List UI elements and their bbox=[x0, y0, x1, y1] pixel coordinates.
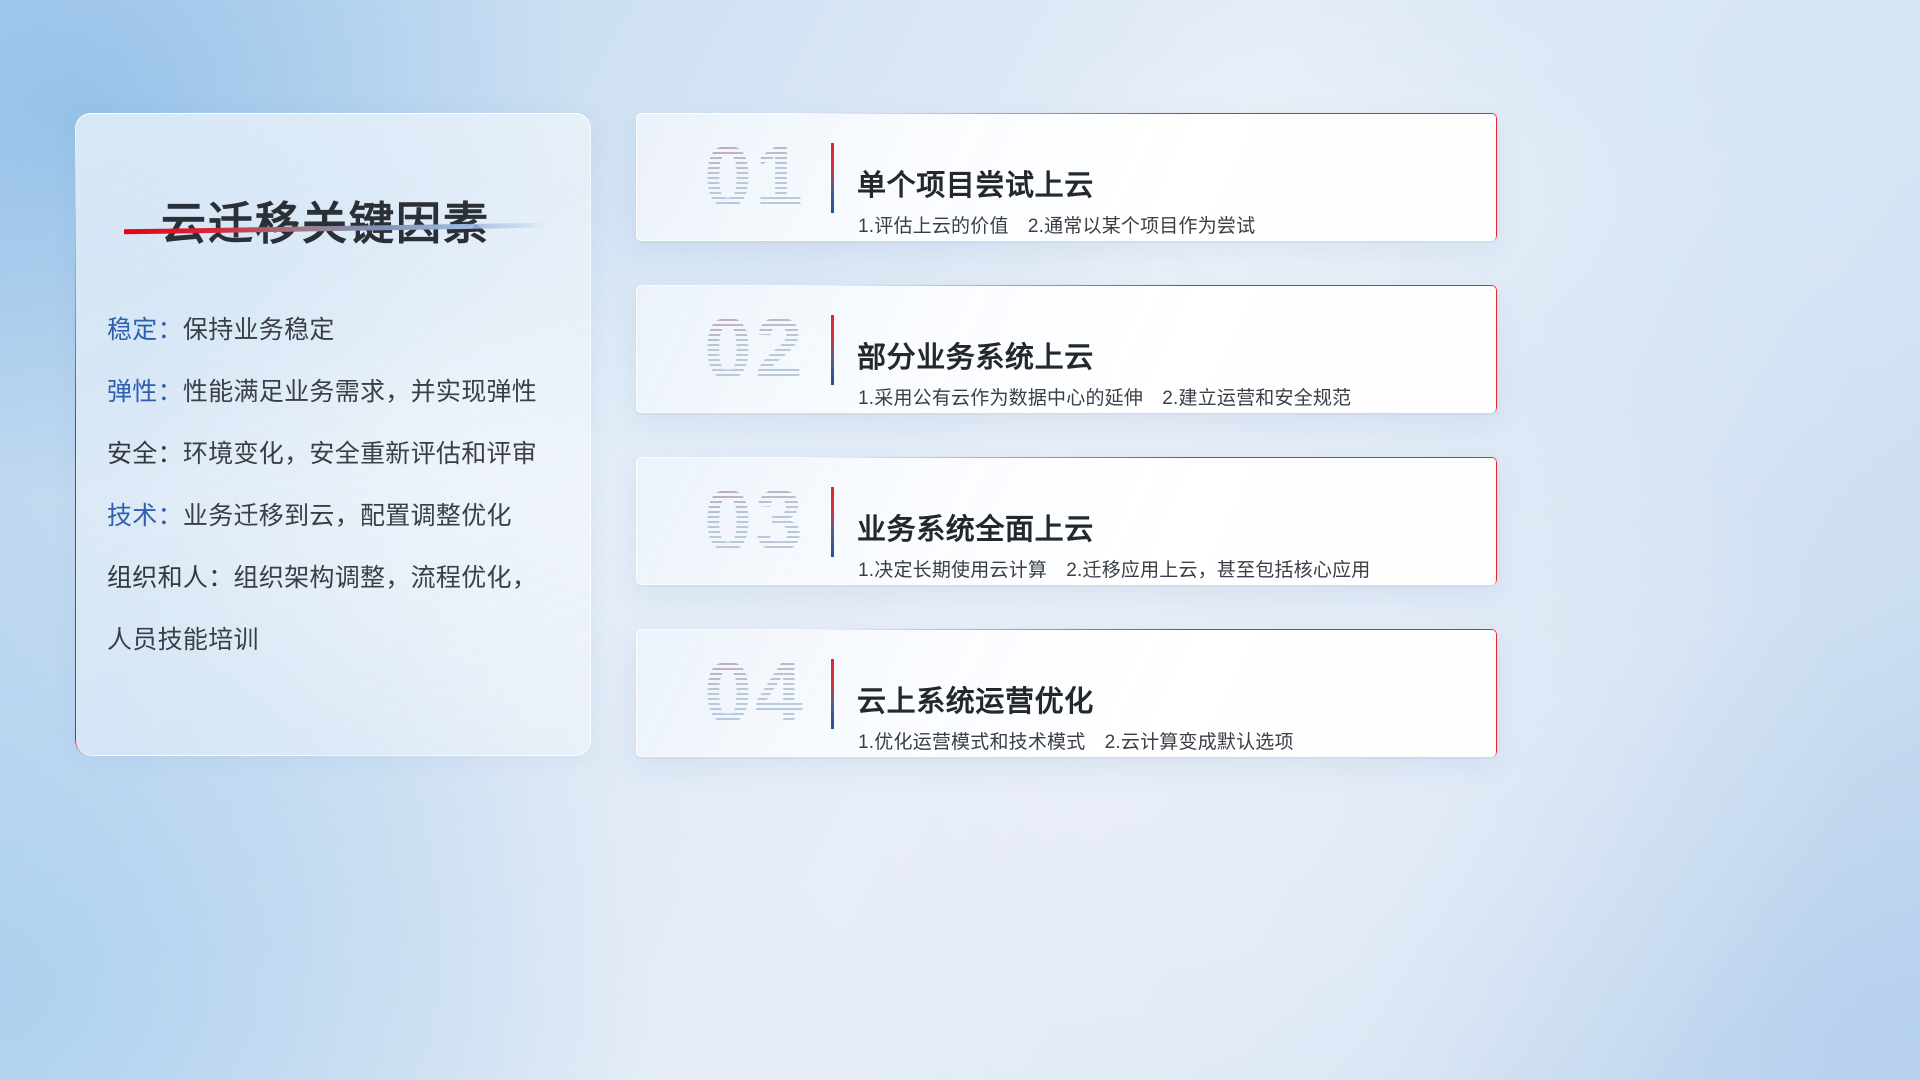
step-number-ghost-tint: 01 bbox=[660, 127, 850, 227]
key-factors-list: 稳定：保持业务稳定 弹性：性能满足业务需求，并实现弹性 安全：环境变化，安全重新… bbox=[107, 299, 577, 671]
step-number-ghost: 04 bbox=[660, 643, 850, 743]
factor-value: 组织架构调整，流程优化， bbox=[234, 564, 538, 592]
factor-value: 保持业务稳定 bbox=[183, 316, 335, 344]
step-title: 云上系统运营优化 bbox=[857, 678, 1094, 720]
slide-canvas: 云迁移关键因素 稳定：保持业务稳定 弹性：性能满足业务需求，并实现弹性 安全：环… bbox=[0, 0, 1920, 1080]
factor-label: 组织和人： bbox=[107, 564, 234, 592]
step-description: 1.优化运营模式和技术模式 2.云计算变成默认选项 bbox=[858, 727, 1294, 754]
page-title: 云迁移关键因素 bbox=[161, 187, 490, 252]
card-divider bbox=[831, 659, 834, 729]
factor-value: 性能满足业务需求，并实现弹性 bbox=[183, 378, 537, 406]
card-divider bbox=[831, 143, 834, 213]
factor-label: 技术： bbox=[107, 502, 183, 530]
list-item: 人员技能培训 bbox=[107, 609, 577, 671]
list-item: 弹性：性能满足业务需求，并实现弹性 bbox=[107, 361, 577, 423]
step-number-ghost: 03 bbox=[660, 471, 850, 571]
factor-value: 人员技能培训 bbox=[107, 626, 259, 654]
step-number-ghost-tint: 02 bbox=[660, 299, 850, 399]
key-factors-panel: 云迁移关键因素 稳定：保持业务稳定 弹性：性能满足业务需求，并实现弹性 安全：环… bbox=[75, 113, 591, 756]
factor-label: 安全： bbox=[107, 440, 183, 468]
card-divider bbox=[831, 487, 834, 557]
step-card[interactable]: 02 02 部分业务系统上云 1.采用公有云作为数据中心的延伸 2.建立运营和安… bbox=[636, 285, 1497, 413]
step-number-ghost-tint: 03 bbox=[660, 471, 850, 571]
step-card[interactable]: 01 01 单个项目尝试上云 1.评估上云的价值 2.通常以某个项目作为尝试 bbox=[636, 113, 1497, 241]
step-description: 1.采用公有云作为数据中心的延伸 2.建立运营和安全规范 bbox=[858, 383, 1351, 410]
step-number-ghost: 01 bbox=[660, 127, 850, 227]
list-item: 稳定：保持业务稳定 bbox=[107, 299, 577, 361]
step-description: 1.评估上云的价值 2.通常以某个项目作为尝试 bbox=[858, 211, 1255, 238]
step-number-ghost: 02 bbox=[660, 299, 850, 399]
factor-value: 环境变化，安全重新评估和评审 bbox=[183, 440, 537, 468]
step-title: 业务系统全面上云 bbox=[857, 506, 1094, 548]
step-title: 单个项目尝试上云 bbox=[857, 162, 1094, 204]
factor-label: 弹性： bbox=[107, 378, 183, 406]
step-description: 1.决定长期使用云计算 2.迁移应用上云，甚至包括核心应用 bbox=[858, 555, 1371, 582]
factor-value: 业务迁移到云，配置调整优化 bbox=[183, 502, 512, 530]
step-card[interactable]: 03 03 业务系统全面上云 1.决定长期使用云计算 2.迁移应用上云，甚至包括… bbox=[636, 457, 1497, 585]
list-item: 组织和人：组织架构调整，流程优化， bbox=[107, 547, 577, 609]
list-item: 技术：业务迁移到云，配置调整优化 bbox=[107, 485, 577, 547]
factor-label: 稳定： bbox=[107, 316, 183, 344]
step-title: 部分业务系统上云 bbox=[857, 334, 1094, 376]
card-divider bbox=[831, 315, 834, 385]
list-item: 安全：环境变化，安全重新评估和评审 bbox=[107, 423, 577, 485]
step-number-ghost-tint: 04 bbox=[660, 643, 850, 743]
step-card[interactable]: 04 04 云上系统运营优化 1.优化运营模式和技术模式 2.云计算变成默认选项 bbox=[636, 629, 1497, 757]
